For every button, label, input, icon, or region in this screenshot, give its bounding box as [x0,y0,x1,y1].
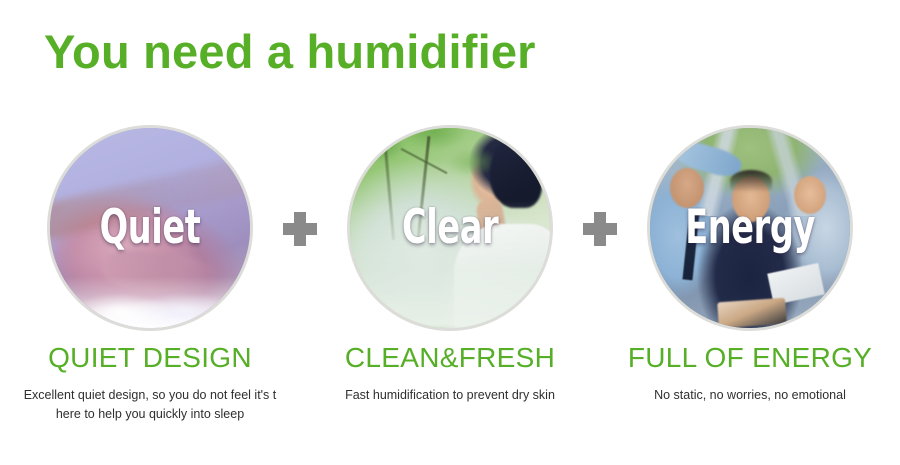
feature-description: No static, no worries, no emotional [614,386,886,405]
feature-image-quiet: Quiet [50,128,250,328]
feature-clean-fresh: Clear CLEAN&FRESH Fast humidification to… [300,128,600,405]
plus-icon [583,212,617,246]
feature-overlay-label: Clear [350,206,550,248]
overlay-text: Quiet [100,204,201,251]
photo-detail [66,276,246,328]
feature-full-of-energy: Energy FULL OF ENERGY No static, no worr… [600,128,900,405]
photo-detail [717,298,787,328]
feature-title: FULL OF ENERGY [628,344,872,372]
feature-title: QUIET DESIGN [48,344,252,372]
overlay-text: Energy [685,204,815,251]
feature-description: Excellent quiet design, so you do not fe… [14,386,286,425]
feature-row: Quiet QUIET DESIGN Excellent quiet desig… [0,128,900,418]
promo-banner: You need a humidifier Quiet QUIET DESIGN… [0,0,900,465]
photo-detail [730,170,772,192]
plus-icon [283,212,317,246]
feature-quiet-design: Quiet QUIET DESIGN Excellent quiet desig… [0,128,300,425]
feature-overlay-label: Quiet [50,206,250,248]
feature-image-energy: Energy [650,128,850,328]
feature-title: CLEAN&FRESH [345,344,555,372]
feature-image-clear: Clear [350,128,550,328]
overlay-text: Clear [402,204,498,251]
feature-overlay-label: Energy [650,206,850,248]
page-title: You need a humidifier [44,26,536,78]
feature-description: Fast humidification to prevent dry skin [314,386,586,405]
photo-detail [490,140,542,208]
